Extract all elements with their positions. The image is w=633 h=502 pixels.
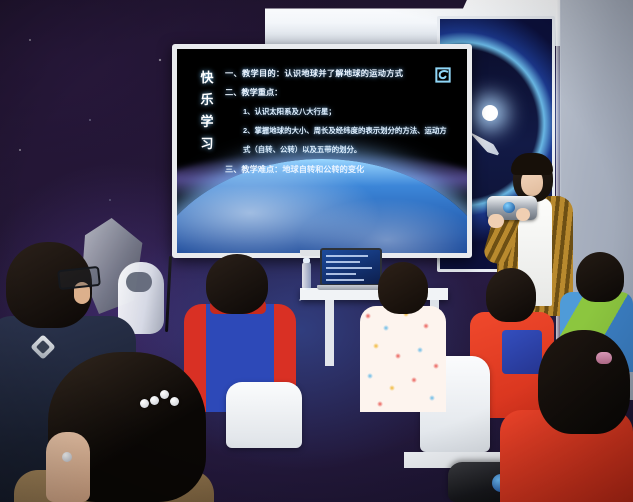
projector-lens-icon bbox=[503, 202, 515, 213]
slide-vertical-heading: 快乐学习 bbox=[197, 67, 217, 155]
presenter-hand bbox=[488, 214, 504, 228]
child-red-jacket-head bbox=[486, 268, 536, 322]
finger-ring bbox=[62, 452, 72, 462]
hair-tie bbox=[596, 352, 612, 364]
space-shuttle-icon bbox=[469, 130, 502, 159]
woman-foreground-hand bbox=[46, 432, 90, 502]
boy-red-blue-jacket-head bbox=[206, 254, 268, 314]
girl-red-coat-head bbox=[538, 330, 630, 434]
wall-display[interactable]: 快乐学习 一、教学目的：认识地球并了解地球的运动方式 二、教学重点： 1、认识太… bbox=[172, 44, 472, 258]
slide-subpoint-3: 式（自转、公转）以及五带的划分。 bbox=[243, 144, 459, 155]
pearl-hair-clip bbox=[160, 390, 169, 399]
presenter-hair bbox=[511, 153, 553, 175]
laptop-screen[interactable] bbox=[322, 250, 380, 284]
pearl-hair-clip bbox=[170, 397, 179, 406]
screenshot-root: 快乐学习 一、教学目的：认识地球并了解地球的运动方式 二、教学重点： 1、认识太… bbox=[0, 0, 633, 502]
table-leg bbox=[325, 300, 334, 366]
slide-closing-line: 三、教学难点：地球自转和公转的变化 bbox=[225, 163, 459, 175]
pearl-hair-clip bbox=[150, 396, 159, 405]
laptop-base bbox=[317, 285, 385, 290]
white-chair-front[interactable] bbox=[226, 382, 302, 448]
laptop-lid bbox=[320, 248, 382, 286]
pearl-hair-clip bbox=[140, 399, 149, 408]
shirt-cartoon-pattern bbox=[360, 306, 446, 412]
slide-body: 一、教学目的：认识地球并了解地球的运动方式 二、教学重点： 1、认识太阳系及八大… bbox=[225, 67, 459, 183]
slide-line-2: 二、教学重点： bbox=[225, 86, 459, 98]
slide-subpoint-2: 2、掌握地球的大小、周长及经纬度的表示划分的方法、运动方 bbox=[243, 125, 459, 136]
child-green-blue-jacket-head bbox=[576, 252, 624, 302]
presentation-slide: 快乐学习 一、教学目的：认识地球并了解地球的运动方式 二、教学重点： 1、认识太… bbox=[177, 49, 467, 253]
girl-patterned-shirt-head bbox=[378, 262, 428, 314]
jacket-graphic-print bbox=[502, 330, 542, 374]
spiral-square-logo-icon bbox=[433, 65, 453, 85]
water-bottle bbox=[302, 262, 311, 290]
slide-line-1: 一、教学目的：认识地球并了解地球的运动方式 bbox=[225, 67, 459, 79]
poster-star-glow bbox=[482, 105, 498, 121]
slide-subpoint-1: 1、认识太阳系及八大行星； bbox=[243, 106, 459, 117]
open-laptop[interactable] bbox=[318, 248, 384, 290]
presenter-hand bbox=[516, 208, 530, 221]
